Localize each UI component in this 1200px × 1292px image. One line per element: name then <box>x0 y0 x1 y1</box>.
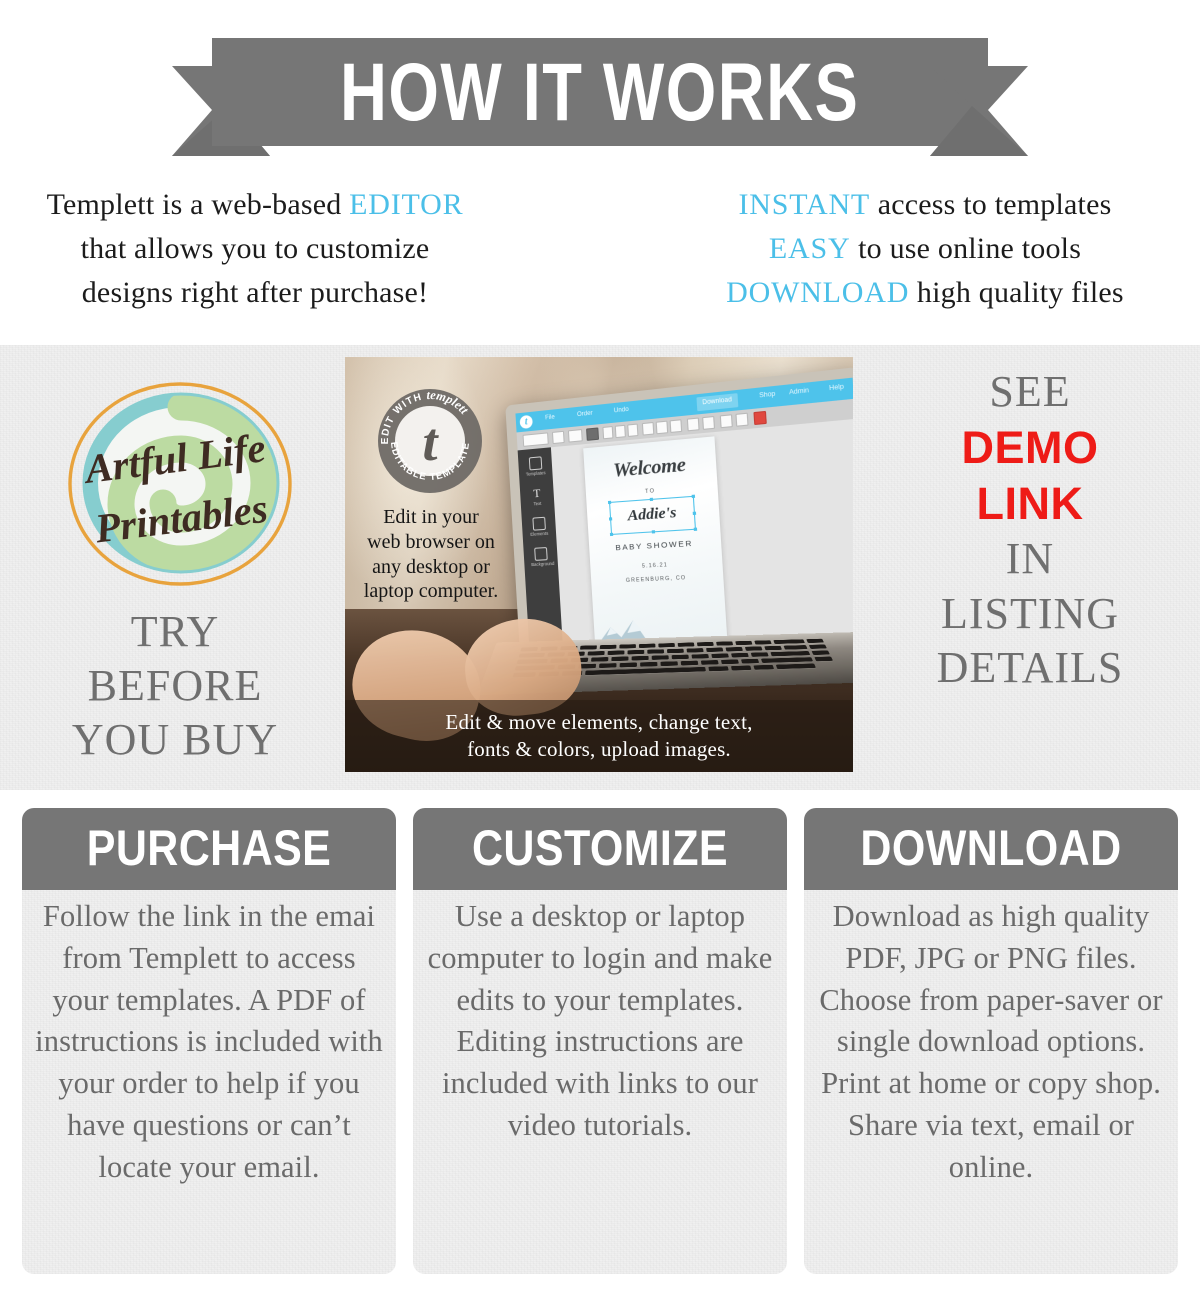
intro-left-line-1: Templett is a web-based EDITOR <box>20 183 490 227</box>
rail-label-elements: Elements <box>529 531 549 537</box>
laptop-photo: t File Order Undo Download Shop Admin He… <box>345 357 853 772</box>
editor-menu-undo[interactable]: Undo <box>614 407 629 415</box>
edit-browser-line-1: Edit in your <box>353 505 509 530</box>
rail-item-background[interactable]: Background <box>530 547 551 567</box>
template-event-text[interactable]: BABY SHOWER <box>589 537 721 554</box>
edit-browser-line-4: laptop computer. <box>353 579 509 604</box>
ribbon-center-plate: HOW IT WORKS <box>212 38 988 146</box>
step-card-purchase: PURCHASE Follow the link in the emai fro… <box>22 808 396 1274</box>
try-line-2: BEFORE <box>10 659 340 713</box>
step-card-customize: CUSTOMIZE Use a desktop or laptop comput… <box>413 808 787 1274</box>
photo-caption-line-2: fonts & colors, upload images. <box>467 736 731 763</box>
step-card-customize-title: CUSTOMIZE <box>472 821 728 878</box>
photo-caption: Edit & move elements, change text, fonts… <box>345 700 853 772</box>
text-icon: T <box>530 487 544 501</box>
left-column: Artful Life Printables TRY BEFORE YOU BU… <box>10 355 340 780</box>
toolbar-delete-button[interactable] <box>753 411 766 425</box>
toolbar-align-center-button[interactable] <box>656 421 669 435</box>
toolbar-font-select[interactable] <box>523 432 549 447</box>
intro-left-line-2: that allows you to customize <box>20 227 490 271</box>
editor-menu-admin[interactable]: Admin <box>789 388 809 397</box>
page-title: HOW IT WORKS <box>340 51 859 133</box>
toolbar-color-swatch[interactable] <box>586 427 599 440</box>
photo-caption-line-1: Edit & move elements, change text, <box>445 709 752 736</box>
laptop-device: t File Order Undo Download Shop Admin He… <box>513 405 853 715</box>
intro-left-line-3: designs right after purchase! <box>20 271 490 315</box>
keyword-editor: EDITOR <box>349 188 463 221</box>
toolbar-align-left-button[interactable] <box>642 422 654 436</box>
template-date-text[interactable]: 5.16.21 <box>590 559 722 572</box>
step-card-purchase-title: PURCHASE <box>87 821 332 878</box>
rail-item-templates[interactable]: Templates <box>525 456 546 477</box>
editor-menu-order[interactable]: Order <box>577 410 593 418</box>
ribbon-tail-right <box>910 38 1030 168</box>
try-line-3: YOU BUY <box>10 713 340 767</box>
intro-right-1b: access to templates <box>870 188 1111 221</box>
see-demo-line-details: DETAILS <box>870 641 1190 696</box>
toolbar-rotate-button[interactable] <box>687 417 700 431</box>
toolbar-opacity-button[interactable] <box>702 416 715 430</box>
templates-icon <box>528 456 542 470</box>
background-icon <box>534 547 548 561</box>
toolbar-font-size[interactable] <box>552 431 565 444</box>
edit-in-browser-text: Edit in your web browser on any desktop … <box>353 505 509 604</box>
rail-item-text[interactable]: T Text <box>527 486 548 507</box>
editor-download-button[interactable]: Download <box>696 393 738 411</box>
step-card-customize-body: Use a desktop or laptop computer to logi… <box>413 890 787 1274</box>
selected-text-box[interactable]: Addie's <box>609 496 696 535</box>
toolbar-layer-button[interactable] <box>720 414 733 428</box>
see-demo-line-in: IN <box>870 532 1190 587</box>
template-document[interactable]: Welcome TO Addie's BABY SHOWER 5.16.21 <box>583 436 729 660</box>
intro-right-line-3: DOWNLOAD high quality files <box>690 271 1160 315</box>
editor-menu-shop[interactable]: Shop <box>759 391 775 399</box>
keyword-download: DOWNLOAD <box>726 276 909 309</box>
step-card-download-text: Download as high quality PDF, JPG or PNG… <box>814 896 1168 1188</box>
keyword-easy: EASY <box>769 232 851 265</box>
template-place-text[interactable]: GREENBURG, CO <box>591 573 723 585</box>
template-welcome-text[interactable]: Welcome <box>584 451 717 485</box>
see-demo-line-listing: LISTING <box>870 587 1190 642</box>
editor-logo-icon: t <box>519 415 532 429</box>
toolbar-italic-button[interactable] <box>615 425 626 438</box>
edit-browser-line-2: web browser on <box>353 530 509 555</box>
right-column: SEE DEMO LINK IN LISTING DETAILS <box>870 365 1190 696</box>
toolbar-bold-button[interactable] <box>602 426 613 439</box>
middle-band: Artful Life Printables TRY BEFORE YOU BU… <box>0 345 1200 790</box>
toolbar-duplicate-button[interactable] <box>735 413 748 427</box>
step-card-download-title: DOWNLOAD <box>860 821 1121 878</box>
toolbar-underline-button[interactable] <box>627 424 638 437</box>
intro-text-right: INSTANT access to templates EASY to use … <box>690 183 1160 314</box>
try-line-1: TRY <box>10 605 340 659</box>
step-card-download-header: DOWNLOAD <box>804 808 1178 890</box>
intro-row: Templett is a web-based EDITOR that allo… <box>0 175 1200 345</box>
rail-label-text: Text <box>528 500 548 506</box>
step-card-purchase-body: Follow the link in the emai from Templet… <box>22 890 396 1274</box>
intro-left-1a: Templett is a web-based <box>47 188 350 221</box>
edit-browser-line-3: any desktop or <box>353 555 509 580</box>
rail-label-templates: Templates <box>526 470 546 477</box>
laptop-screen-bezel: t File Order Undo Download Shop Admin He… <box>505 367 853 668</box>
step-card-download: DOWNLOAD Download as high quality PDF, J… <box>804 808 1178 1274</box>
shop-logo: Artful Life Printables <box>65 380 295 595</box>
elements-icon <box>532 517 546 531</box>
intro-right-3b: high quality files <box>909 276 1124 309</box>
intro-right-line-1: INSTANT access to templates <box>690 183 1160 227</box>
intro-right-line-2: EASY to use online tools <box>690 227 1160 271</box>
intro-text-left: Templett is a web-based EDITOR that allo… <box>20 183 490 314</box>
toolbar-line-height[interactable] <box>568 429 583 443</box>
see-demo-line-see: SEE <box>870 365 1190 420</box>
templett-editor-screen: t File Order Undo Download Shop Admin He… <box>515 378 853 660</box>
svg-text:t: t <box>422 412 439 472</box>
editor-menu-file[interactable]: File <box>545 414 555 421</box>
step-card-customize-header: CUSTOMIZE <box>413 808 787 890</box>
step-card-purchase-text: Follow the link in the emai from Templet… <box>32 896 386 1188</box>
intro-right-2b: to use online tools <box>850 232 1081 265</box>
keyword-instant: INSTANT <box>739 188 871 221</box>
see-demo-line-demo: DEMO <box>870 420 1190 476</box>
step-card-download-body: Download as high quality PDF, JPG or PNG… <box>804 890 1178 1274</box>
steps-cards-row: PURCHASE Follow the link in the emai fro… <box>0 790 1200 1292</box>
toolbar-align-right-button[interactable] <box>670 419 683 433</box>
template-name-text[interactable]: Addie's <box>611 503 695 526</box>
rail-label-background: Background <box>531 561 551 567</box>
step-card-purchase-header: PURCHASE <box>22 808 396 890</box>
header-banner: HOW IT WORKS <box>0 0 1200 175</box>
try-before-you-buy-text: TRY BEFORE YOU BUY <box>10 605 340 767</box>
see-demo-line-link: LINK <box>870 476 1190 532</box>
templett-badge-photo-icon: t EDIT WITH templett EDITABLE TEMPLATE <box>374 385 486 497</box>
rail-item-elements[interactable]: Elements <box>528 517 549 537</box>
editor-menu-help[interactable]: Help <box>829 384 844 392</box>
editor-canvas[interactable]: Welcome TO Addie's BABY SHOWER 5.16.21 <box>551 419 853 659</box>
step-card-customize-text: Use a desktop or laptop computer to logi… <box>423 896 777 1147</box>
ribbon: HOW IT WORKS <box>0 38 1200 168</box>
